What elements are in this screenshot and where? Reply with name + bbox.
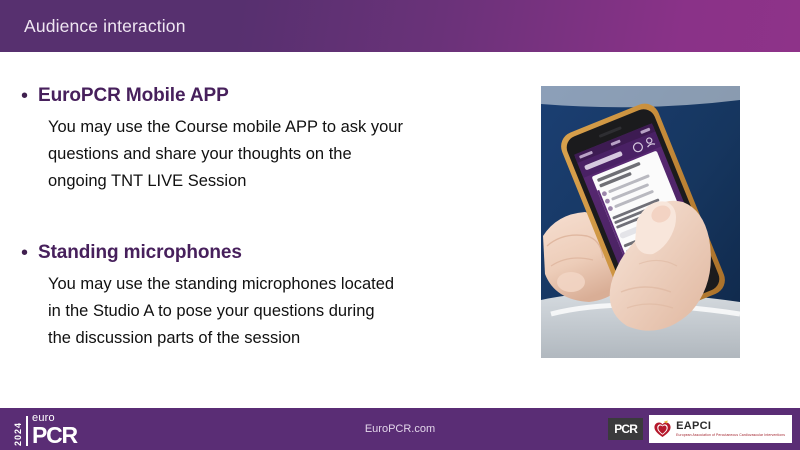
bullet-heading-standing-microphones: Standing microphones	[38, 241, 242, 265]
eapci-name: EAPCI	[676, 421, 785, 432]
paragraph-line-text: questions and share your thoughts on the	[48, 141, 352, 168]
logo-wordmark: euro PCR	[32, 413, 77, 446]
text-column: • EuroPCR Mobile APP You may use the Cou…	[18, 84, 518, 352]
bullet-dot-icon: •	[18, 84, 38, 108]
footer-badges: PCR EAPCI European Association of Percut…	[608, 415, 792, 443]
paragraph-line: You may use the Course mobile APP to ask…	[48, 114, 513, 141]
photo-hands-holding-smartphone	[541, 86, 740, 358]
footer-url: EuroPCR.com	[365, 423, 435, 435]
slide-footer: 2024 euro PCR EuroPCR.com PCR EAPCI	[0, 408, 800, 450]
slide-root: Audience interaction • EuroPCR Mobile AP…	[0, 0, 800, 450]
eapci-sublabel: European Association of Percutaneous Car…	[676, 433, 785, 438]
slide-header: Audience interaction	[0, 0, 800, 52]
paragraph-line: You may use the standing microphones loc…	[48, 271, 513, 298]
bullet-dot-icon: •	[18, 241, 38, 265]
logo-year: 2024	[14, 421, 23, 446]
slide-content: • EuroPCR Mobile APP You may use the Cou…	[0, 52, 800, 408]
paragraph-line: the discussion parts of the session	[48, 325, 513, 352]
logo-pcr-text: PCR	[32, 424, 77, 446]
paragraph-line: ongoing TNT LIVE Session	[48, 168, 513, 195]
body-paragraph-mobile-app: You may use the Course mobile APP to ask…	[48, 114, 513, 195]
bullet-heading-row: • Standing microphones	[18, 241, 518, 265]
bullet-heading-mobile-app: EuroPCR Mobile APP	[38, 84, 229, 108]
page-title: Audience interaction	[24, 16, 186, 37]
europcr-logo: 2024 euro PCR	[14, 413, 77, 446]
content-block-standing-microphones: • Standing microphones You may use the s…	[18, 241, 518, 352]
logo-divider	[26, 416, 28, 446]
paragraph-line: questions and share your thoughts on the	[48, 141, 513, 168]
eapci-badge: EAPCI European Association of Percutaneo…	[649, 415, 792, 443]
paragraph-line: in the Studio A to pose your questions d…	[48, 298, 513, 325]
body-paragraph-standing-microphones: You may use the standing microphones loc…	[48, 271, 513, 352]
photo-illustration	[541, 86, 740, 358]
pcr-badge: PCR	[608, 418, 643, 440]
content-block-mobile-app: • EuroPCR Mobile APP You may use the Cou…	[18, 84, 518, 195]
heart-icon	[653, 420, 672, 439]
eapci-text-group: EAPCI European Association of Percutaneo…	[676, 421, 785, 438]
bullet-heading-row: • EuroPCR Mobile APP	[18, 84, 518, 108]
